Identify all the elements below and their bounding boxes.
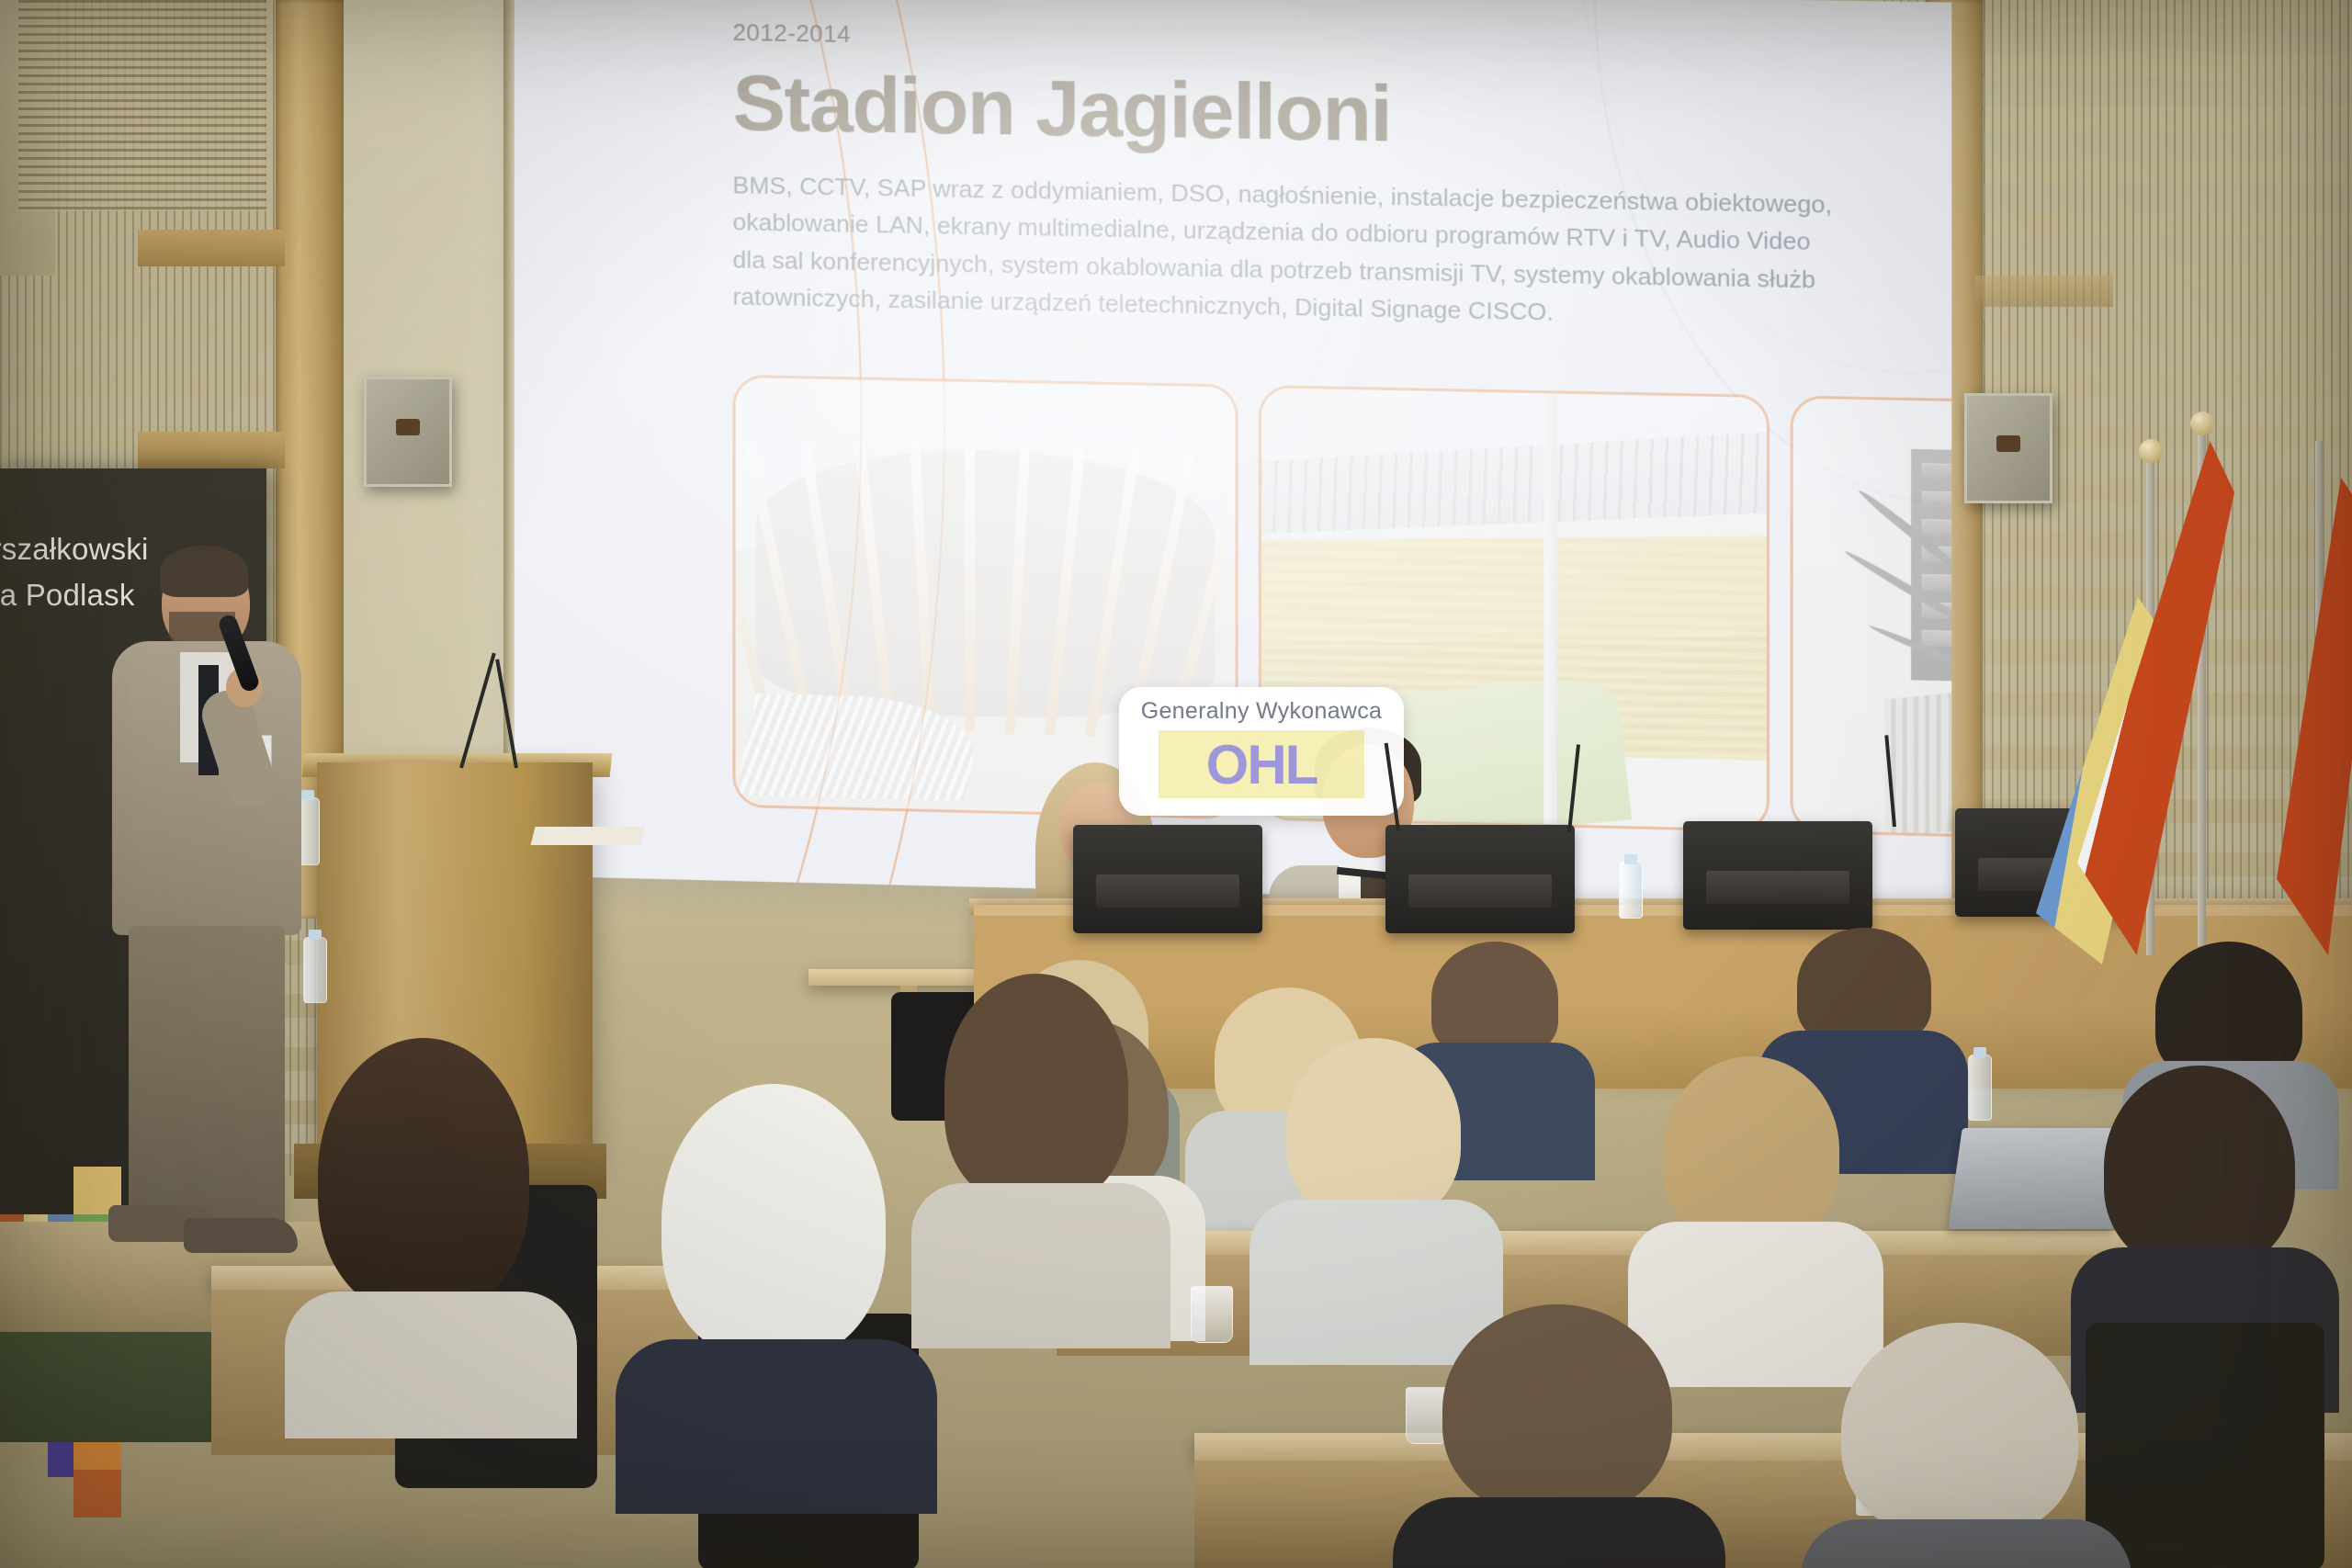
audience-shoulders xyxy=(911,1183,1170,1348)
audience-person-front-2 xyxy=(643,1084,919,1506)
audience-hair xyxy=(1663,1056,1839,1244)
poland-flag-2 xyxy=(2315,441,2324,937)
audience-hair xyxy=(1286,1038,1461,1222)
banner-bottom-in: IN xyxy=(0,1562,28,1568)
ohl-logo: OHL xyxy=(1159,730,1364,798)
presenter xyxy=(92,551,331,1268)
sign-caption: Generalny Wykonawca xyxy=(1119,698,1404,725)
ceiling-vent-left xyxy=(18,0,266,211)
audience-shoulders xyxy=(285,1292,577,1438)
general-contractor-sign: Generalny Wykonawca OHL xyxy=(1119,687,1404,816)
audience-shoulders xyxy=(1393,1497,1725,1568)
audience-hair xyxy=(318,1038,529,1314)
presenter-hair xyxy=(160,546,248,597)
audience-hair xyxy=(1841,1323,2078,1540)
slide-body-text: BMS, CCTV, SAP wraz z oddymianiem, DSO, … xyxy=(732,166,1837,335)
audience-hair xyxy=(1442,1304,1672,1516)
audience-person-front-3 xyxy=(928,974,1158,1341)
audience-person-front-1 xyxy=(303,1038,560,1424)
conference-hall-photo: 2012-2014 Stadion Jagielloni BMS, CCTV, … xyxy=(0,0,2352,1568)
banner-invest-in-podlaskie: VESTININPODLASKIE xyxy=(0,1562,257,1568)
head-table-monitor-1 xyxy=(1073,825,1262,933)
presenter-trousers xyxy=(129,926,285,1229)
audience-hair xyxy=(1797,928,1931,1043)
poland-flag xyxy=(2198,432,2207,946)
wall-beam-left-2 xyxy=(138,432,285,468)
audience-hair xyxy=(2155,942,2302,1079)
slide-thumbnail-av-rack xyxy=(1791,395,1952,845)
audience-water-bottle-back xyxy=(1968,1055,1992,1121)
ohl-logo-text: OHL xyxy=(1206,733,1317,796)
audience-person-mid-2 xyxy=(1268,1038,1488,1350)
audience-desk-mid xyxy=(1057,1231,2141,1255)
head-table-monitor-3 xyxy=(1683,821,1872,930)
audience-person-front-4 xyxy=(1415,1304,1709,1568)
slide-title: Stadion Jagielloni xyxy=(732,63,1894,163)
audience-shoulders xyxy=(1801,1519,2131,1568)
jbl-wall-speaker-left xyxy=(364,377,452,487)
jbl-wall-speaker-right xyxy=(1964,393,2052,503)
audience-hair xyxy=(2104,1066,2295,1269)
slide-date-range: 2012-2014 xyxy=(732,18,1894,66)
audience-hair xyxy=(661,1084,886,1359)
presenter-shoe-2 xyxy=(184,1218,298,1253)
head-table-monitor-2 xyxy=(1385,825,1575,933)
audience-chair-3 xyxy=(2086,1323,2324,1568)
audience-person-front-5 xyxy=(1819,1323,2113,1568)
wall-beam-right-1 xyxy=(1975,276,2113,307)
audience-shoulders xyxy=(616,1339,937,1514)
banner-bottom-post: PODLASKIE xyxy=(28,1562,225,1568)
podium-document xyxy=(531,827,646,845)
head-table-water-bottle xyxy=(1619,862,1643,919)
wall-beam-left-1 xyxy=(138,230,285,266)
audience-glass-1 xyxy=(1191,1286,1233,1343)
audience-hair xyxy=(944,974,1128,1203)
